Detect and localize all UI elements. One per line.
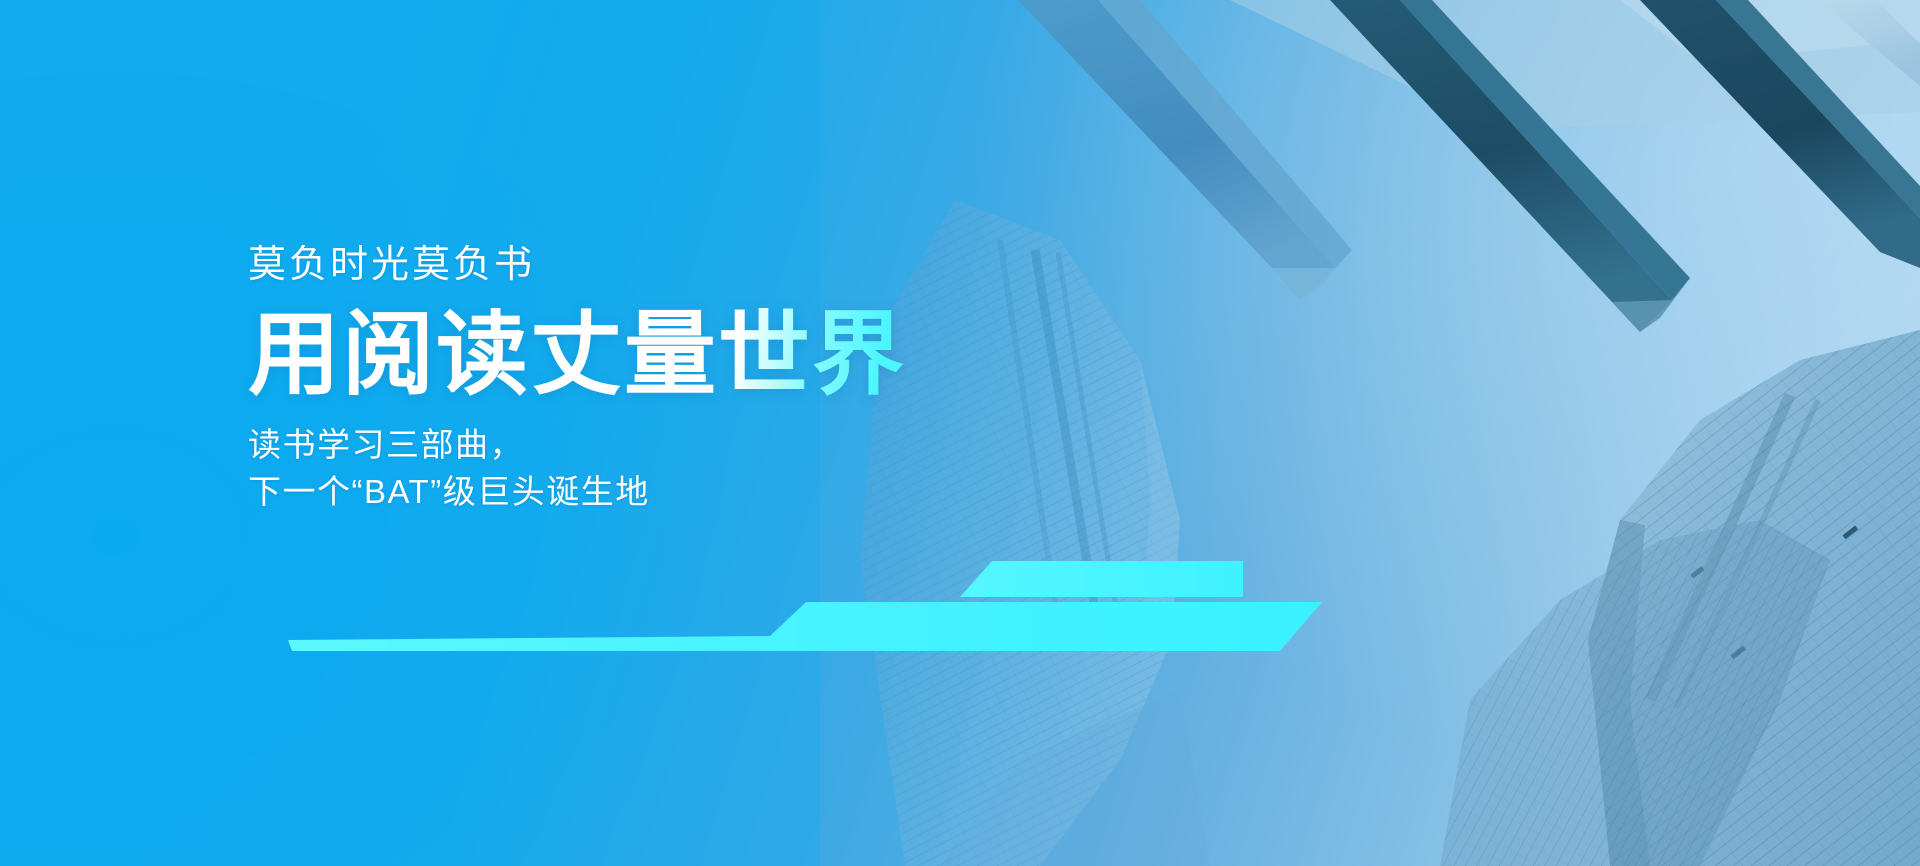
banner-eyebrow: 莫负时光莫负书 (248, 246, 1148, 284)
banner-subtitle: 读书学习三部曲， 下一个“BAT”级巨头诞生地 (248, 422, 1148, 516)
banner-copy-block: 莫负时光莫负书 用阅读丈量世界 读书学习三部曲， 下一个“BAT”级巨头诞生地 (248, 246, 1148, 515)
banner-subtitle-line-2: 下一个“BAT”级巨头诞生地 (248, 469, 1148, 516)
hero-banner: 莫负时光莫负书 用阅读丈量世界 读书学习三部曲， 下一个“BAT”级巨头诞生地 (0, 0, 1920, 866)
banner-subtitle-line-1: 读书学习三部曲， (248, 422, 1148, 469)
banner-headline: 用阅读丈量世界 (248, 308, 1148, 404)
